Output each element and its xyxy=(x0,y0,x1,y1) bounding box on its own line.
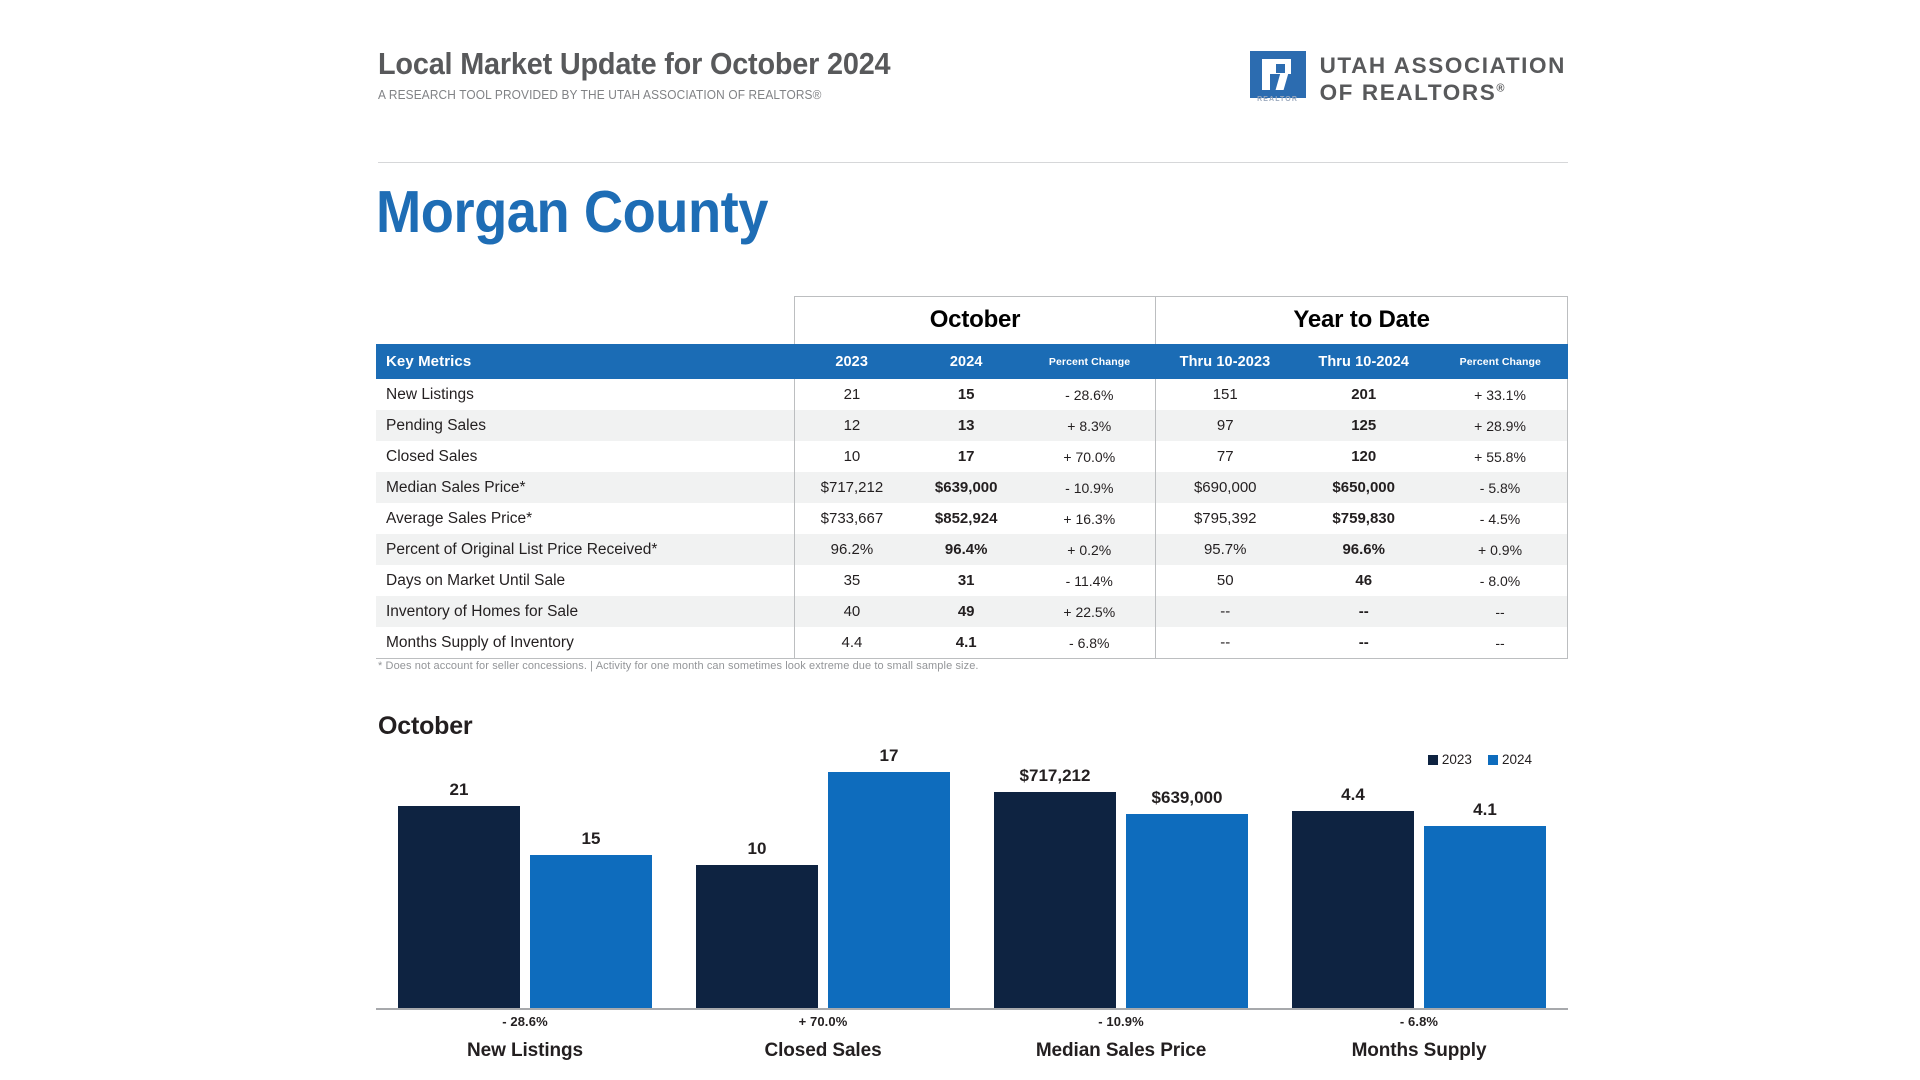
row-ytd-prev: 77 xyxy=(1156,441,1295,472)
row-month-prev: 35 xyxy=(794,565,909,596)
x-label-cell-2: + 70.0%Closed Sales xyxy=(674,1014,972,1062)
col-header-month-percent-change: Percent Change xyxy=(1023,344,1155,379)
bar-holder-2024: 15 xyxy=(530,762,652,1008)
county-heading: Morgan County xyxy=(376,178,768,246)
row-ytd-pct: -- xyxy=(1433,627,1567,659)
bar-value-label: 21 xyxy=(398,780,520,800)
row-ytd-pct: + 55.8% xyxy=(1433,441,1567,472)
bar-2024 xyxy=(1126,814,1248,1008)
row-ytd-pct: - 8.0% xyxy=(1433,565,1567,596)
row-ytd-cur: 46 xyxy=(1294,565,1433,596)
row-month-pct: - 11.4% xyxy=(1023,565,1155,596)
chart-bars: 4.44.1 xyxy=(1270,762,1568,1008)
x-percent-change: - 6.8% xyxy=(1270,1014,1568,1029)
row-ytd-cur: 120 xyxy=(1294,441,1433,472)
chart-bars: 2115 xyxy=(376,762,674,1008)
row-metric-label: New Listings xyxy=(376,379,794,410)
row-ytd-prev: 50 xyxy=(1156,565,1295,596)
chart-bars: 1017 xyxy=(674,762,972,1008)
realtor-mark-word: REALTOR xyxy=(1250,96,1306,103)
row-month-prev: 21 xyxy=(794,379,909,410)
row-month-cur: 13 xyxy=(909,410,1024,441)
row-ytd-cur: -- xyxy=(1294,627,1433,659)
chart-axis-line xyxy=(376,1008,1568,1010)
key-metrics-table-wrapper: October Year to Date Key Metrics 2023 20… xyxy=(376,296,1568,659)
group-header-year-to-date: Year to Date xyxy=(1156,297,1568,345)
row-ytd-pct: + 0.9% xyxy=(1433,534,1567,565)
row-month-cur: 17 xyxy=(909,441,1024,472)
bar-holder-2024: 17 xyxy=(828,762,950,1008)
x-percent-change: - 10.9% xyxy=(972,1014,1270,1029)
row-month-prev: 10 xyxy=(794,441,909,472)
bar-value-label: 4.4 xyxy=(1292,785,1414,805)
group-header-blank xyxy=(376,297,794,345)
row-ytd-pct: - 4.5% xyxy=(1433,503,1567,534)
row-metric-label: Median Sales Price* xyxy=(376,472,794,503)
col-header-month-2023: 2023 xyxy=(794,344,909,379)
table-row: Closed Sales 10 17 + 70.0% 77 120 + 55.8… xyxy=(376,441,1568,472)
row-month-pct: - 28.6% xyxy=(1023,379,1155,410)
bar-value-label: 17 xyxy=(828,746,950,766)
page-header: Local Market Update for October 2024 A R… xyxy=(378,48,1568,168)
bar-2024 xyxy=(1424,826,1546,1008)
chart-plot-area: 21151017$717,212$639,0004.44.1 xyxy=(376,762,1568,1010)
row-ytd-prev: -- xyxy=(1156,627,1295,659)
row-month-cur: $639,000 xyxy=(909,472,1024,503)
row-ytd-cur: 96.6% xyxy=(1294,534,1433,565)
col-header-key-metrics: Key Metrics xyxy=(376,344,794,379)
row-month-cur: $852,924 xyxy=(909,503,1024,534)
registered-mark: ® xyxy=(1496,82,1504,94)
row-ytd-cur: $650,000 xyxy=(1294,472,1433,503)
row-month-pct: + 70.0% xyxy=(1023,441,1155,472)
table-group-header-row: October Year to Date xyxy=(376,297,1568,345)
bar-2023 xyxy=(994,792,1116,1008)
market-update-page: Local Market Update for October 2024 A R… xyxy=(0,0,1920,1080)
bar-holder-2023: 4.4 xyxy=(1292,762,1414,1008)
row-ytd-pct: + 33.1% xyxy=(1433,379,1567,410)
row-ytd-prev: 151 xyxy=(1156,379,1295,410)
row-ytd-pct: + 28.9% xyxy=(1433,410,1567,441)
bar-2023 xyxy=(696,865,818,1008)
bar-holder-2023: 10 xyxy=(696,762,818,1008)
header-divider xyxy=(378,162,1568,163)
table-row: Pending Sales 12 13 + 8.3% 97 125 + 28.9… xyxy=(376,410,1568,441)
row-month-pct: + 22.5% xyxy=(1023,596,1155,627)
row-month-prev: $717,212 xyxy=(794,472,909,503)
row-ytd-prev: $795,392 xyxy=(1156,503,1295,534)
chart-bar-groups: 21151017$717,212$639,0004.44.1 xyxy=(376,762,1568,1008)
row-ytd-prev: 97 xyxy=(1156,410,1295,441)
row-month-prev: 12 xyxy=(794,410,909,441)
row-ytd-cur: 125 xyxy=(1294,410,1433,441)
bar-value-label: 15 xyxy=(530,829,652,849)
key-metrics-table: October Year to Date Key Metrics 2023 20… xyxy=(376,296,1568,659)
row-metric-label: Percent of Original List Price Received* xyxy=(376,534,794,565)
row-month-pct: - 10.9% xyxy=(1023,472,1155,503)
brand-wordmark: UTAH ASSOCIATION OF REALTORS® xyxy=(1320,51,1566,106)
row-month-prev: 96.2% xyxy=(794,534,909,565)
row-month-pct: - 6.8% xyxy=(1023,627,1155,659)
chart-x-axis-labels: - 28.6%New Listings+ 70.0%Closed Sales- … xyxy=(376,1014,1568,1062)
chart-group-1: 2115 xyxy=(376,762,674,1008)
bar-holder-2023: $717,212 xyxy=(994,762,1116,1008)
table-row: New Listings 21 15 - 28.6% 151 201 + 33.… xyxy=(376,379,1568,410)
bar-2023 xyxy=(398,806,520,1008)
row-month-pct: + 8.3% xyxy=(1023,410,1155,441)
table-column-header-row: Key Metrics 2023 2024 Percent Change Thr… xyxy=(376,344,1568,379)
bar-2024 xyxy=(530,855,652,1008)
row-month-cur: 4.1 xyxy=(909,627,1024,659)
table-row: Days on Market Until Sale 35 31 - 11.4% … xyxy=(376,565,1568,596)
row-ytd-pct: -- xyxy=(1433,596,1567,627)
october-bar-chart: October 2023 2024 21151017$717,212$639,0… xyxy=(376,712,1568,1062)
bar-holder-2023: 21 xyxy=(398,762,520,1008)
row-month-cur: 31 xyxy=(909,565,1024,596)
col-header-ytd-2024: Thru 10-2024 xyxy=(1294,344,1433,379)
table-row: Inventory of Homes for Sale 40 49 + 22.5… xyxy=(376,596,1568,627)
x-label-cell-4: - 6.8%Months Supply xyxy=(1270,1014,1568,1062)
x-percent-change: + 70.0% xyxy=(674,1014,972,1029)
bar-value-label: 10 xyxy=(696,839,818,859)
bar-value-label: 4.1 xyxy=(1424,800,1546,820)
row-ytd-cur: 201 xyxy=(1294,379,1433,410)
row-month-prev: 4.4 xyxy=(794,627,909,659)
row-ytd-pct: - 5.8% xyxy=(1433,472,1567,503)
group-header-october: October xyxy=(794,297,1155,345)
chart-group-3: $717,212$639,000 xyxy=(972,762,1270,1008)
chart-bars: $717,212$639,000 xyxy=(972,762,1270,1008)
realtor-r-icon: REALTOR xyxy=(1250,51,1306,107)
x-category-label: New Listings xyxy=(376,1040,674,1062)
x-label-cell-1: - 28.6%New Listings xyxy=(376,1014,674,1062)
header-titles: Local Market Update for October 2024 A R… xyxy=(378,48,929,102)
table-footnote: * Does not account for seller concession… xyxy=(378,660,979,672)
row-month-pct: + 16.3% xyxy=(1023,503,1155,534)
chart-group-4: 4.44.1 xyxy=(1270,762,1568,1008)
row-ytd-prev: $690,000 xyxy=(1156,472,1295,503)
brand-line-1: UTAH ASSOCIATION xyxy=(1320,53,1566,80)
row-metric-label: Average Sales Price* xyxy=(376,503,794,534)
col-header-month-2024: 2024 xyxy=(909,344,1024,379)
table-row: Percent of Original List Price Received*… xyxy=(376,534,1568,565)
row-ytd-prev: 95.7% xyxy=(1156,534,1295,565)
row-metric-label: Closed Sales xyxy=(376,441,794,472)
x-label-cell-3: - 10.9%Median Sales Price xyxy=(972,1014,1270,1062)
page-title: Local Market Update for October 2024 xyxy=(378,48,890,81)
row-metric-label: Months Supply of Inventory xyxy=(376,627,794,659)
brand-line-2-text: OF REALTORS xyxy=(1320,80,1497,105)
brand-line-2: OF REALTORS® xyxy=(1320,80,1566,107)
page-subtitle: A RESEARCH TOOL PROVIDED BY THE UTAH ASS… xyxy=(378,88,901,102)
bar-value-label: $639,000 xyxy=(1126,788,1248,808)
row-ytd-cur: $759,830 xyxy=(1294,503,1433,534)
table-row: Months Supply of Inventory 4.4 4.1 - 6.8… xyxy=(376,627,1568,659)
x-percent-change: - 28.6% xyxy=(376,1014,674,1029)
bar-holder-2024: $639,000 xyxy=(1126,762,1248,1008)
bar-value-label: $717,212 xyxy=(994,766,1116,786)
row-month-prev: 40 xyxy=(794,596,909,627)
chart-group-2: 1017 xyxy=(674,762,972,1008)
col-header-ytd-2023: Thru 10-2023 xyxy=(1156,344,1295,379)
utah-association-of-realtors-logo: REALTOR UTAH ASSOCIATION OF REALTORS® xyxy=(1250,51,1566,107)
row-ytd-prev: -- xyxy=(1156,596,1295,627)
row-month-prev: $733,667 xyxy=(794,503,909,534)
chart-title: October xyxy=(378,712,472,741)
row-month-cur: 49 xyxy=(909,596,1024,627)
row-ytd-cur: -- xyxy=(1294,596,1433,627)
x-category-label: Median Sales Price xyxy=(972,1040,1270,1062)
row-month-cur: 15 xyxy=(909,379,1024,410)
x-category-label: Closed Sales xyxy=(674,1040,972,1062)
row-metric-label: Days on Market Until Sale xyxy=(376,565,794,596)
bar-holder-2024: 4.1 xyxy=(1424,762,1546,1008)
row-metric-label: Inventory of Homes for Sale xyxy=(376,596,794,627)
table-row: Median Sales Price* $717,212 $639,000 - … xyxy=(376,472,1568,503)
bar-2023 xyxy=(1292,811,1414,1008)
row-metric-label: Pending Sales xyxy=(376,410,794,441)
x-category-label: Months Supply xyxy=(1270,1040,1568,1062)
row-month-pct: + 0.2% xyxy=(1023,534,1155,565)
col-header-ytd-percent-change: Percent Change xyxy=(1433,344,1567,379)
table-row: Average Sales Price* $733,667 $852,924 +… xyxy=(376,503,1568,534)
bar-2024 xyxy=(828,772,950,1008)
row-month-cur: 96.4% xyxy=(909,534,1024,565)
